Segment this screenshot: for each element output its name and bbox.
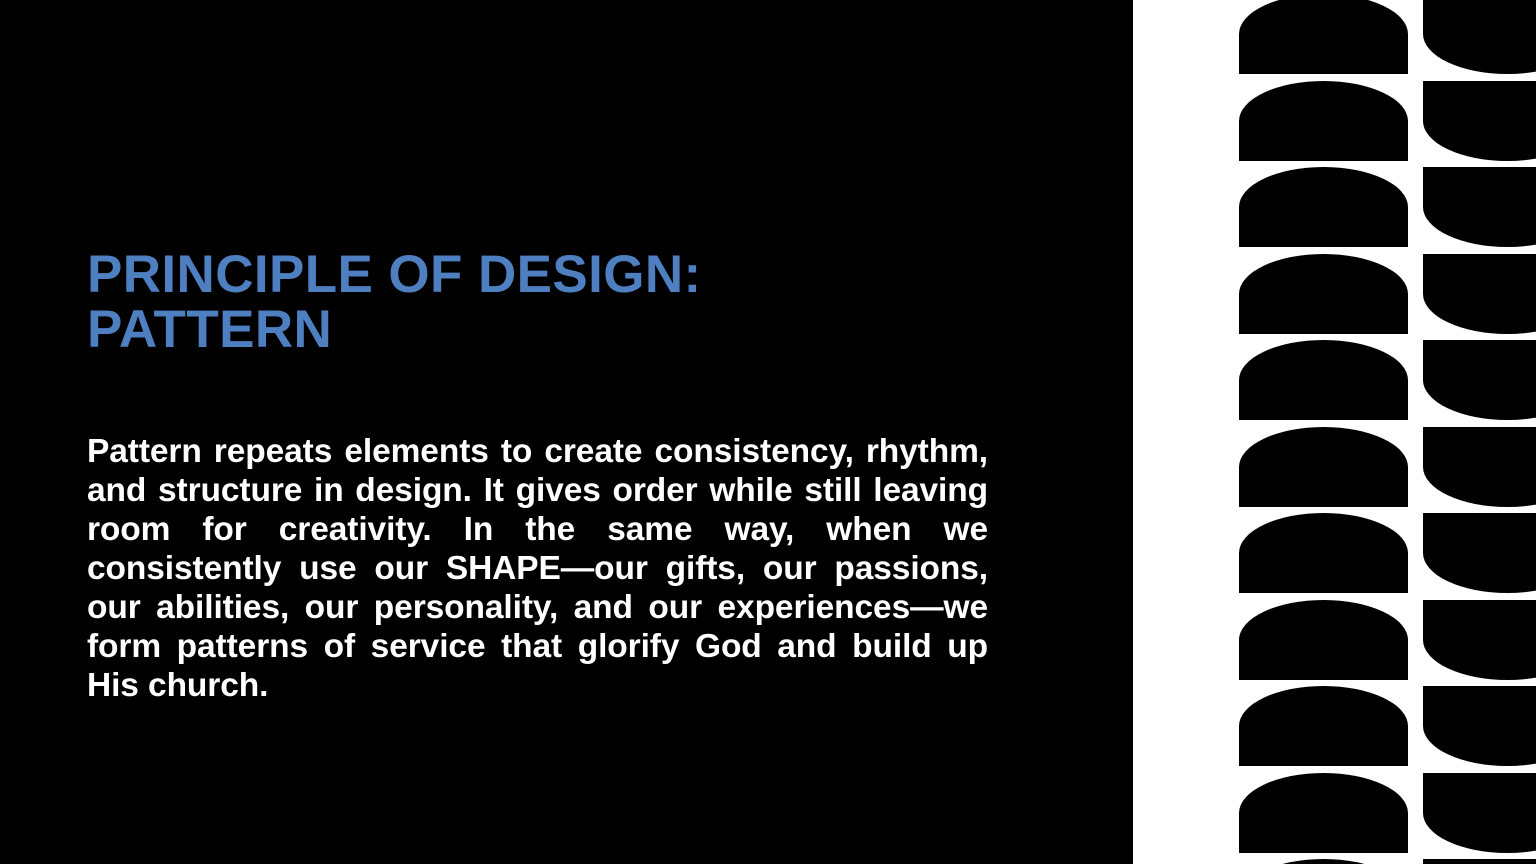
bowl-shape <box>1423 859 1536 864</box>
bowl-shape <box>1423 0 1536 74</box>
bowl-shape <box>1423 254 1536 334</box>
bowl-shape <box>1423 513 1536 593</box>
decorative-pattern-panel <box>1133 0 1536 864</box>
title-block: PRINCIPLE OF DESIGN: PATTERN <box>87 248 987 357</box>
dome-shape <box>1239 340 1408 420</box>
dome-shape <box>1239 600 1408 680</box>
dome-shape <box>1239 427 1408 507</box>
content-panel: PRINCIPLE OF DESIGN: PATTERN Pattern rep… <box>0 0 1133 864</box>
body-block: Pattern repeats elements to create consi… <box>87 432 988 705</box>
bowl-shape <box>1423 340 1536 420</box>
bowl-shape <box>1423 427 1536 507</box>
bowl-column <box>1423 0 1536 864</box>
slide-canvas: PRINCIPLE OF DESIGN: PATTERN Pattern rep… <box>0 0 1536 864</box>
dome-shape <box>1239 167 1408 247</box>
bowl-shape <box>1423 600 1536 680</box>
body-paragraph: Pattern repeats elements to create consi… <box>87 432 988 705</box>
bowl-shape <box>1423 773 1536 853</box>
page-title: PRINCIPLE OF DESIGN: PATTERN <box>87 248 987 357</box>
bowl-shape <box>1423 81 1536 161</box>
dome-shape <box>1239 0 1408 74</box>
dome-shape <box>1239 859 1408 864</box>
bowl-shape <box>1423 167 1536 247</box>
dome-column <box>1239 0 1408 864</box>
dome-shape <box>1239 773 1408 853</box>
dome-shape <box>1239 81 1408 161</box>
dome-shape <box>1239 513 1408 593</box>
dome-shape <box>1239 254 1408 334</box>
dome-shape <box>1239 686 1408 766</box>
bowl-shape <box>1423 686 1536 766</box>
